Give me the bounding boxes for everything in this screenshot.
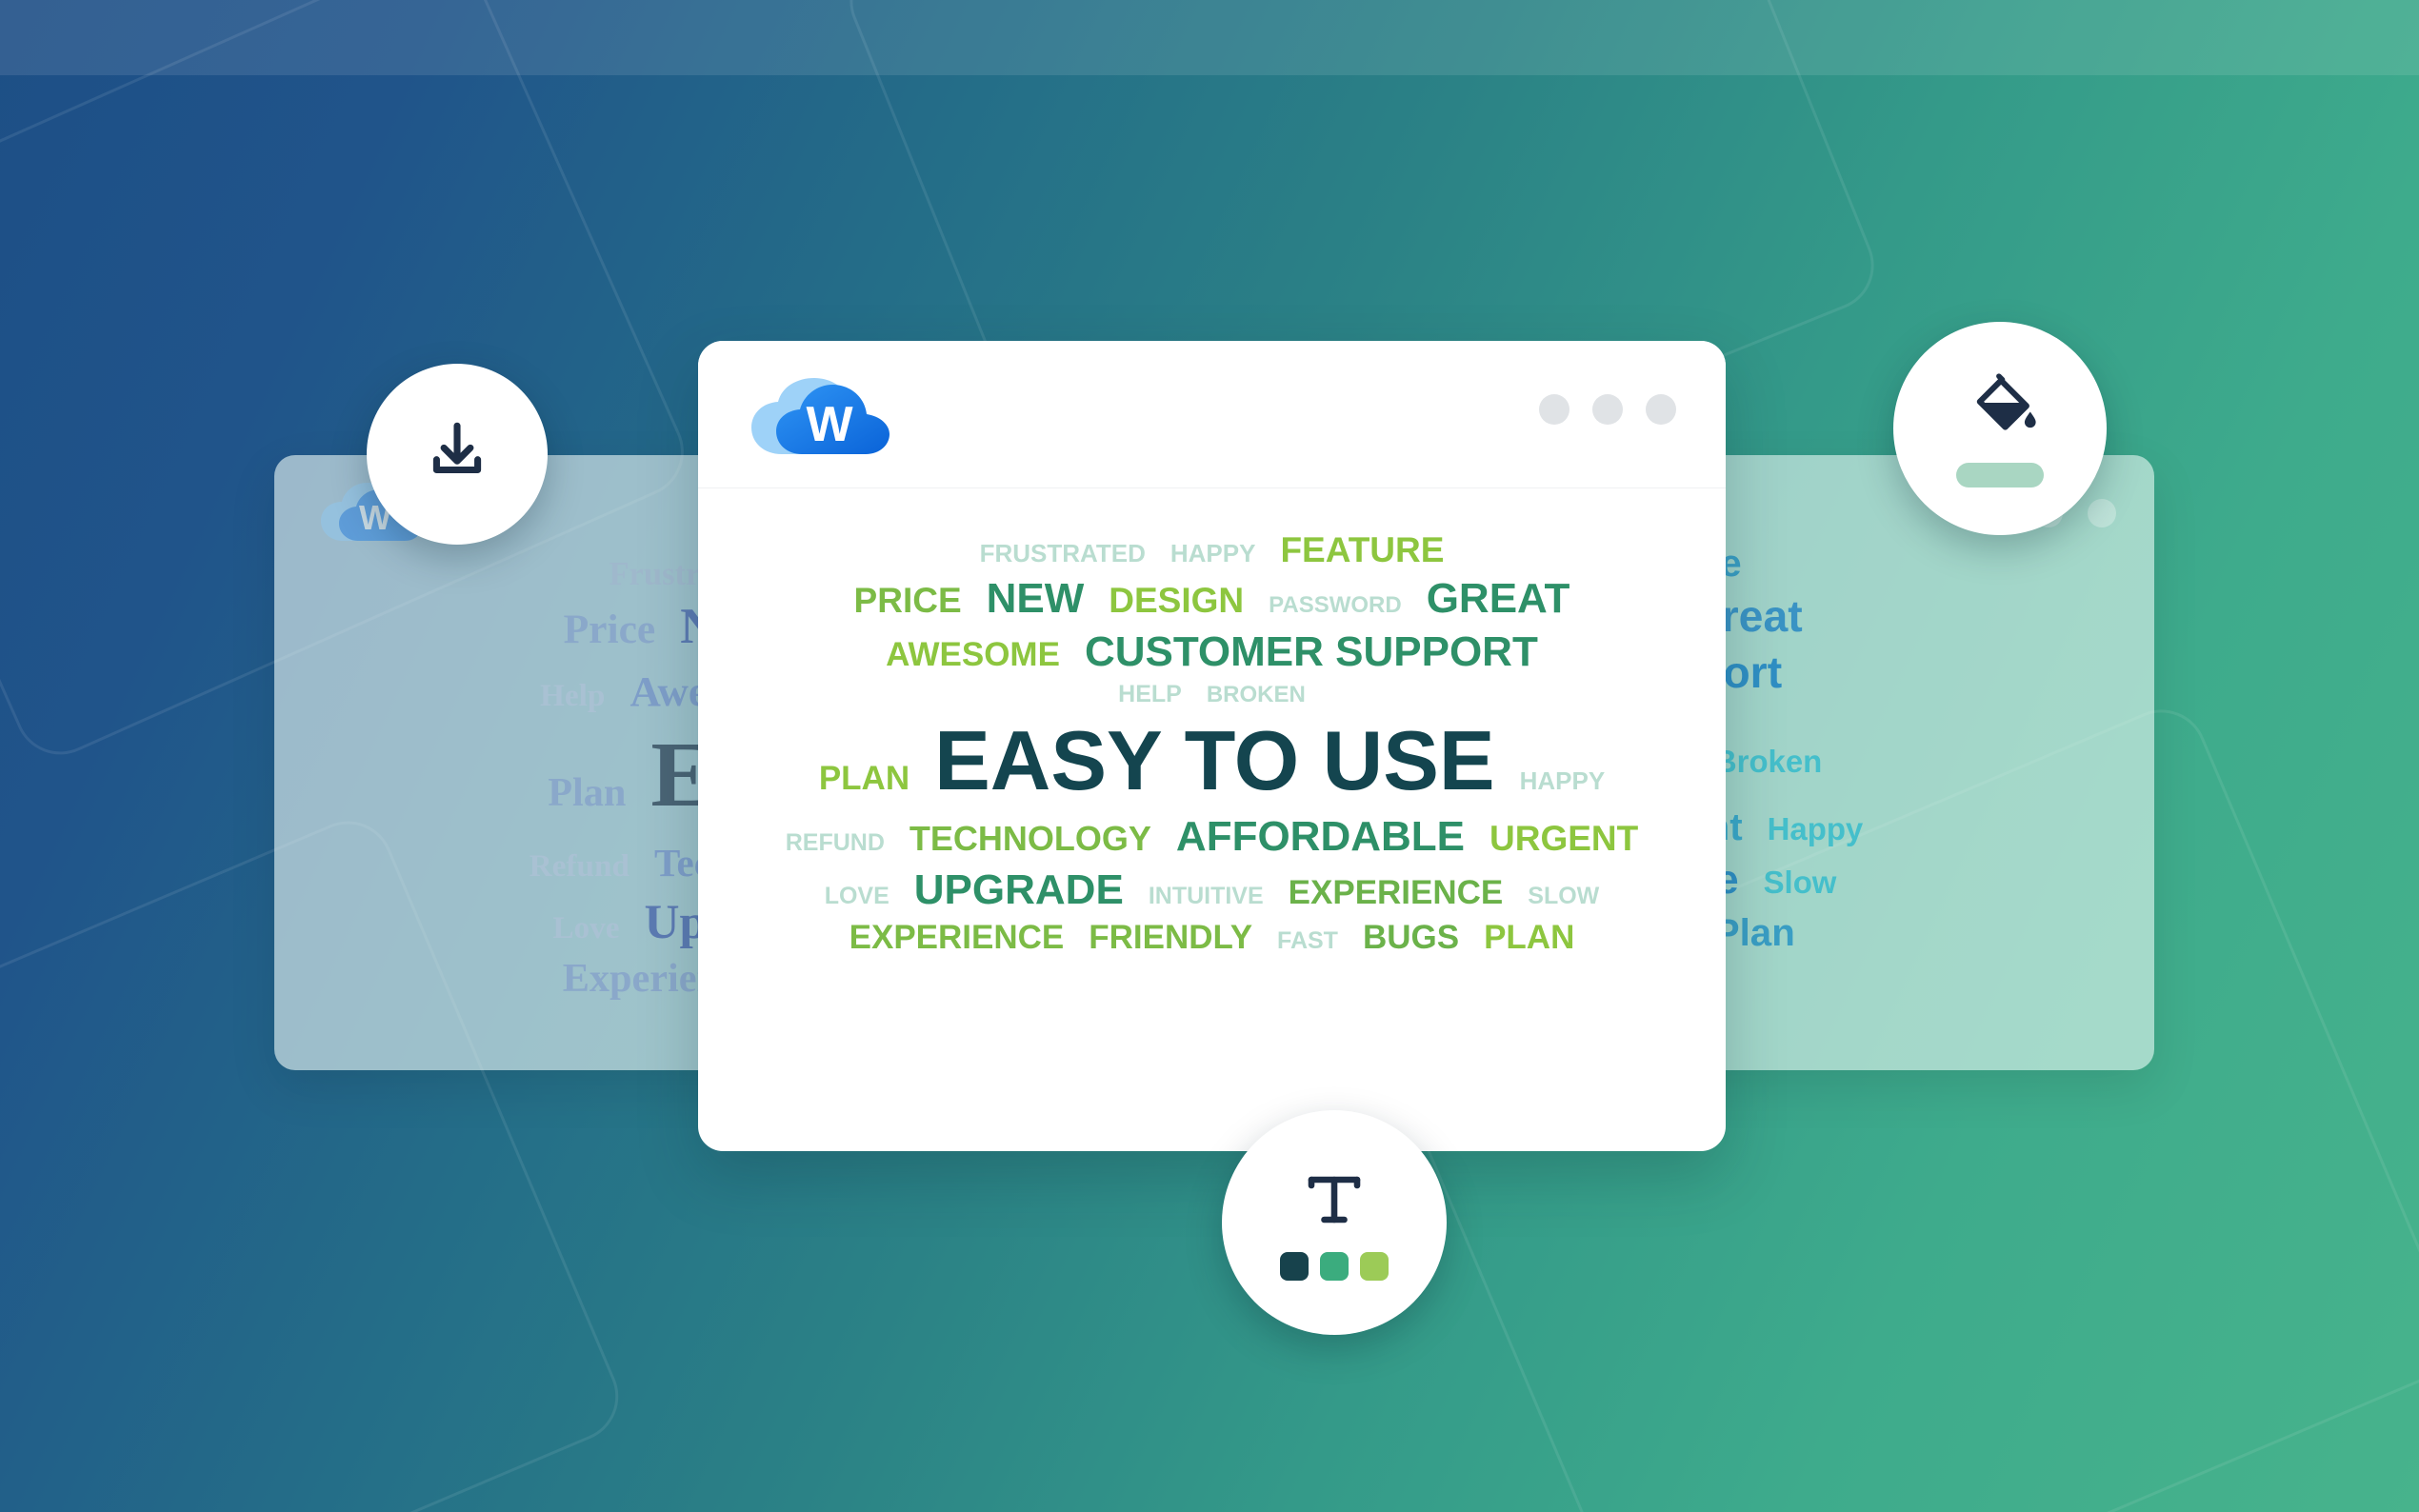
wordcloud-word[interactable]: LOVE <box>825 883 890 909</box>
wordcloud-word[interactable]: GREAT <box>1427 575 1570 622</box>
fill-color-button[interactable] <box>1893 322 2107 535</box>
wordcloud-word[interactable]: TECHNOLOGY <box>910 820 1151 858</box>
wordcloud-word[interactable]: HAPPY <box>1520 767 1606 795</box>
fill-color-swatch[interactable] <box>1956 463 2044 487</box>
wordcloud-word[interactable]: FRUSTRATED <box>980 540 1146 567</box>
text-format-icon <box>1300 1165 1369 1239</box>
wordcloud-word[interactable]: PASSWORD <box>1269 593 1402 619</box>
wordcloud-word[interactable]: URGENT <box>1489 819 1638 858</box>
wordcloud-word[interactable]: PRICE <box>854 581 962 620</box>
wordcloud-word[interactable]: NEW <box>987 575 1085 622</box>
wordcloud-word[interactable]: EXPERIENCE <box>1289 874 1504 911</box>
wordcloud-word[interactable]: FRIENDLY <box>1089 919 1252 956</box>
download-button[interactable] <box>367 364 548 545</box>
wordcloud-word[interactable]: FAST <box>1277 927 1338 954</box>
wordcloud-word[interactable]: AFFORDABLE <box>1176 813 1465 860</box>
svg-text:W: W <box>806 397 853 452</box>
wordcloud-row: REFUNDTECHNOLOGYAFFORDABLEURGENT <box>719 813 1705 860</box>
wordcloud-word[interactable]: REFUND <box>786 829 885 856</box>
text-style-button[interactable] <box>1222 1110 1447 1335</box>
wordcloud-word[interactable]: SLOW <box>1528 883 1599 909</box>
swatch-green[interactable] <box>1320 1252 1349 1281</box>
text-color-swatches[interactable] <box>1280 1252 1389 1281</box>
wordcloud-word[interactable]: Help <box>540 679 605 714</box>
wordcloud-row: HELPBROKEN <box>719 681 1705 708</box>
wordcloud-word[interactable]: EXPERIENCE <box>850 919 1065 956</box>
app-logo-icon[interactable]: W <box>748 376 898 463</box>
wordcloud-row: PLANEASY TO USEHAPPY <box>719 714 1705 808</box>
wordcloud-word[interactable]: Price <box>564 607 656 653</box>
wordcloud-word[interactable]: DESIGN <box>1109 581 1244 620</box>
wordcloud-row: PRICENEWDESIGNPASSWORDGREAT <box>719 575 1705 622</box>
wordcloud-row: LOVEUPGRADEINTUITIVEEXPERIENCESLOW <box>719 866 1705 913</box>
window-dot-3[interactable] <box>1646 394 1676 425</box>
wordcloud-word[interactable]: UPGRADE <box>914 866 1124 913</box>
wordcloud-row: FRUSTRATEDHAPPYFEATURE <box>719 530 1705 569</box>
wordcloud-word[interactable]: Happy <box>1768 812 1864 846</box>
wordcloud-word[interactable]: EASY TO USE <box>934 714 1495 808</box>
main-wordcloud-window[interactable]: W FRUSTRATEDHAPPYFEATUREPRICENEWDESIGNPA… <box>698 341 1726 1151</box>
wordcloud-word[interactable]: Love <box>552 911 619 946</box>
download-icon <box>422 417 492 492</box>
wordcloud-word[interactable]: PLAN <box>1484 919 1574 956</box>
wordcloud-word[interactable]: Plan <box>1714 912 1795 954</box>
wordcloud-word[interactable]: BROKEN <box>1207 683 1306 708</box>
top-overlay-strip <box>0 0 2419 75</box>
wordcloud-row: AWESOMECUSTOMER SUPPORT <box>719 628 1705 675</box>
wordcloud-word[interactable]: Broken <box>1714 745 1822 779</box>
window-dot-2[interactable] <box>1592 394 1623 425</box>
wordcloud-word[interactable]: HAPPY <box>1170 540 1256 567</box>
window-dot-1[interactable] <box>1539 394 1569 425</box>
window-controls[interactable] <box>1539 394 1676 425</box>
wordcloud-canvas[interactable]: FRUSTRATEDHAPPYFEATUREPRICENEWDESIGNPASS… <box>698 488 1726 956</box>
paint-bucket-icon <box>1963 370 2037 449</box>
wordcloud-row: EXPERIENCEFRIENDLYFASTBUGSPLAN <box>719 919 1705 956</box>
right-dot-3 <box>2088 499 2116 527</box>
wordcloud-word[interactable]: HELP <box>1118 681 1182 707</box>
swatch-light-green[interactable] <box>1360 1252 1389 1281</box>
wordcloud-word[interactable]: BUGS <box>1363 919 1459 956</box>
wordcloud-word[interactable]: Slow <box>1764 865 1837 900</box>
wordcloud-word[interactable]: INTUITIVE <box>1149 883 1264 909</box>
wordcloud-word[interactable]: FEATURE <box>1280 530 1444 569</box>
wordcloud-word[interactable]: Refund <box>530 849 630 885</box>
wordcloud-word[interactable]: CUSTOMER SUPPORT <box>1085 628 1538 675</box>
wordcloud-word[interactable]: Plan <box>548 771 626 815</box>
wordcloud-word[interactable]: AWESOME <box>886 636 1060 673</box>
swatch-dark-teal[interactable] <box>1280 1252 1309 1281</box>
main-window-header: W <box>698 341 1726 488</box>
wordcloud-word[interactable]: PLAN <box>819 760 910 797</box>
